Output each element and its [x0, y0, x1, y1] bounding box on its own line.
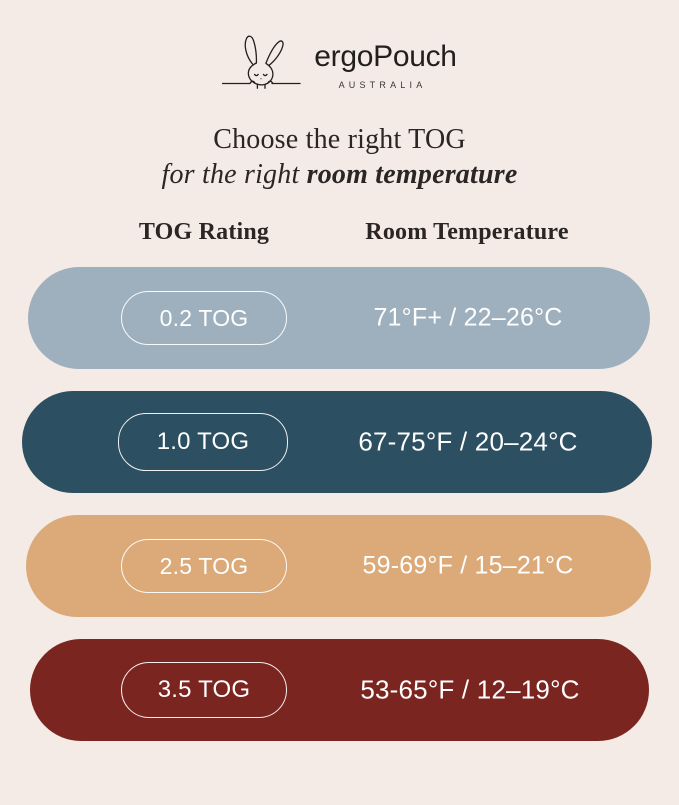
column-header-tog-rating: TOG Rating: [139, 219, 269, 246]
headline-line-2: for the right room temperature: [0, 157, 679, 193]
tog-badge: 0.2 TOG: [121, 291, 287, 345]
tog-badge: 2.5 TOG: [121, 539, 287, 593]
bunny-icon: [222, 32, 308, 90]
headline-line-2-prefix: for the right: [161, 159, 306, 190]
tog-row-3-5: 3.5 TOG 53-65°F / 12–19°C: [30, 639, 649, 741]
brand-logo: ergoPouch AUSTRALIA: [0, 0, 679, 90]
temperature-value: 53-65°F / 12–19°C: [360, 675, 579, 706]
headline-line-1: Choose the right TOG: [0, 122, 679, 157]
tog-row-0-2: 0.2 TOG 71°F+ / 22–26°C: [28, 267, 650, 369]
tog-badge: 1.0 TOG: [118, 413, 288, 471]
tog-badge: 3.5 TOG: [121, 662, 287, 718]
temperature-value: 59-69°F / 15–21°C: [362, 552, 573, 581]
column-headers: TOG Rating Room Temperature: [0, 219, 679, 261]
page-title: Choose the right TOG for the right room …: [0, 122, 679, 193]
tog-row-1-0: 1.0 TOG 67-75°F / 20–24°C: [22, 391, 652, 493]
logo-wordmark: ergoPouch: [314, 42, 456, 72]
tog-rating-table: 0.2 TOG 71°F+ / 22–26°C 1.0 TOG 67-75°F …: [0, 267, 679, 741]
column-header-room-temperature: Room Temperature: [365, 219, 568, 246]
temperature-value: 67-75°F / 20–24°C: [358, 427, 577, 458]
temperature-value: 71°F+ / 22–26°C: [373, 304, 562, 333]
headline-line-2-emphasis: room temperature: [307, 159, 518, 190]
logo-region-label: AUSTRALIA: [339, 80, 427, 90]
tog-row-2-5: 2.5 TOG 59-69°F / 15–21°C: [26, 515, 651, 617]
